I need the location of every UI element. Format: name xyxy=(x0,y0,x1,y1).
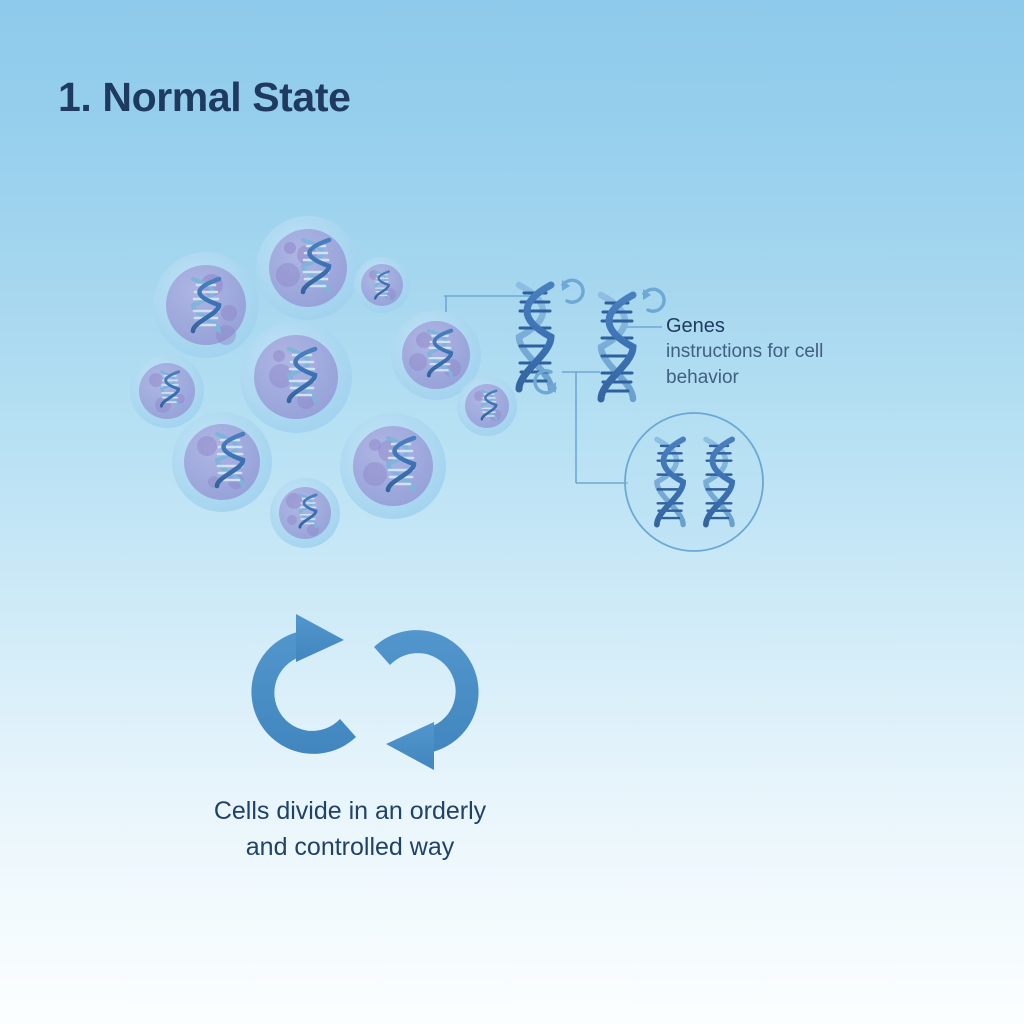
callout-description-line2: behavior xyxy=(666,365,876,391)
dna-strand-left xyxy=(519,285,551,389)
cell-large-bottom-left xyxy=(172,412,272,512)
cell-small-left xyxy=(130,354,204,428)
cell-small-top-right xyxy=(354,257,410,313)
rotation-arrow-top-right xyxy=(643,289,664,311)
cell-small-right-edge xyxy=(457,376,517,436)
caption-line-2: and controlled way xyxy=(110,829,590,865)
cell-large-top xyxy=(256,216,360,320)
cell-large-left xyxy=(153,252,259,358)
genes-callout: Genes instructions for cell behavior xyxy=(666,313,876,391)
cell-division-cycle-icon xyxy=(251,614,478,770)
cycle-caption: Cells divide in an orderly and controlle… xyxy=(110,793,590,865)
caption-line-1: Cells divide in an orderly xyxy=(110,793,590,829)
dna-strand-right xyxy=(601,295,633,399)
normal-state-infographic: 1. Normal State xyxy=(0,0,1024,1024)
cell-cluster xyxy=(130,216,517,548)
rotation-arrow-top-left xyxy=(562,280,583,302)
cell-large-center xyxy=(240,321,352,433)
gene-detail-inset xyxy=(625,413,763,551)
callout-heading: Genes xyxy=(666,313,876,339)
cell-large-bottom xyxy=(340,413,446,519)
illustration-layer xyxy=(0,0,1024,1024)
cell-small-bottom xyxy=(270,478,340,548)
callout-description-line1: instructions for cell xyxy=(666,339,876,365)
